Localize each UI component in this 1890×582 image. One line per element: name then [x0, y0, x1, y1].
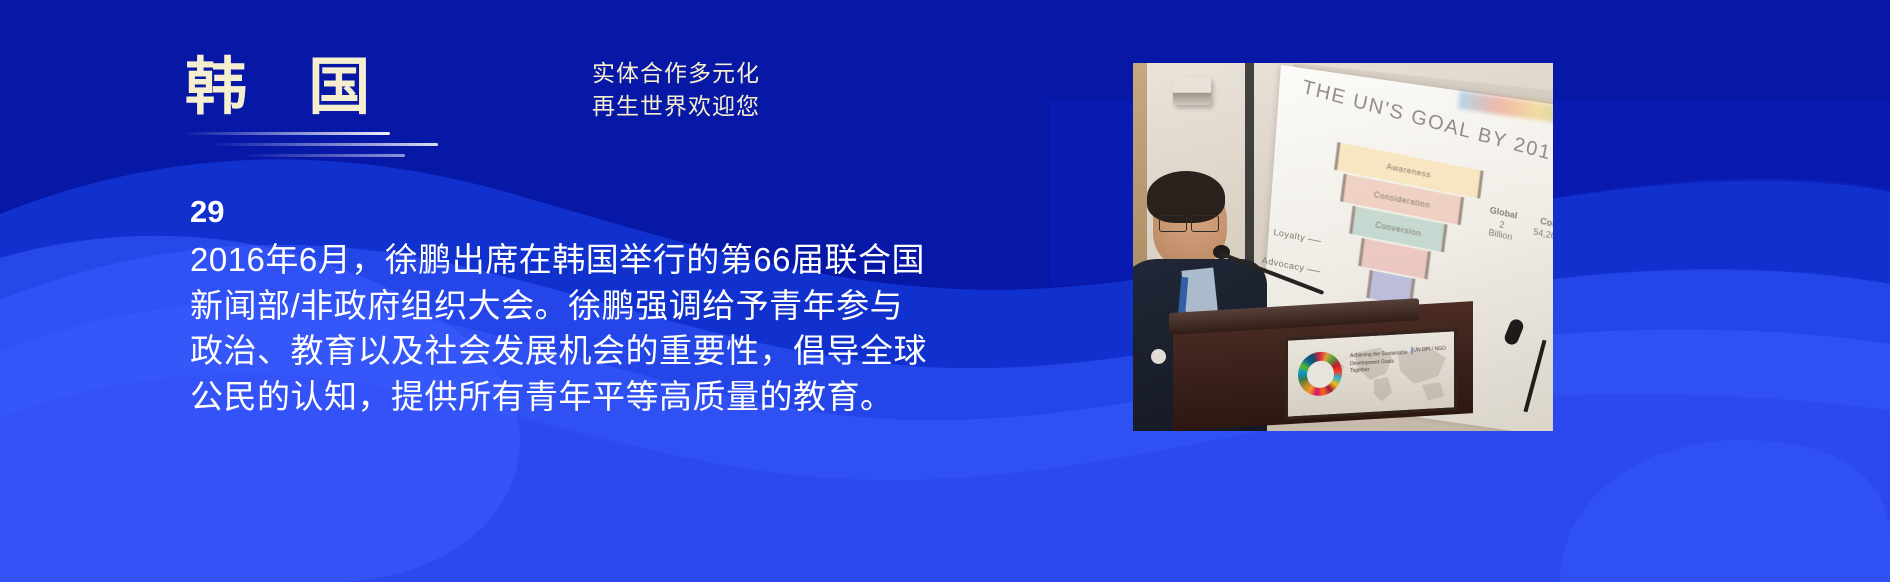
underline-rule-2 — [213, 143, 438, 146]
title-block: 韩 国 — [185, 55, 525, 158]
body-line-3: 政治、教育以及社会发展机会的重要性，倡导全球 — [190, 328, 910, 374]
item-number: 29 — [190, 196, 910, 227]
glasses-lens-right — [1191, 215, 1219, 232]
funnel-diagram: Awareness Consideration Conversion Loyal… — [1319, 142, 1478, 318]
subtitle-line-2: 再生世界欢迎您 — [592, 90, 760, 123]
speaker-badge — [1151, 349, 1166, 364]
wall-vent — [1173, 77, 1211, 105]
slide-statistics: Global 2 Billion Country 54,266,399 — [1486, 205, 1553, 256]
photo-content: THE UN'S GOAL BY 2017 Awareness Consider… — [1133, 63, 1553, 431]
conference-photo: THE UN'S GOAL BY 2017 Awareness Consider… — [1133, 63, 1553, 431]
underline-rule-1 — [185, 132, 390, 135]
subtitle-block: 实体合作多元化 再生世界欢迎您 — [592, 57, 760, 122]
podium-sign: Achieving the Sustainable Development Go… — [1285, 328, 1457, 420]
stat-global: Global 2 Billion — [1486, 205, 1518, 242]
funnel-label-loyalty: Loyalty — [1273, 227, 1306, 243]
stat-country: Country 54,266,399 — [1531, 215, 1553, 256]
underline-rule-3 — [245, 154, 405, 157]
presentation-slide: 韩 国 实体合作多元化 再生世界欢迎您 29 2016年6月，徐鹏出席在韩国举行… — [0, 0, 1890, 582]
stat-global-value: 2 Billion — [1486, 217, 1516, 243]
page-title: 韩 国 — [185, 55, 525, 120]
podium-sign-tagline: Achieving the Sustainable Development Go… — [1350, 350, 1412, 376]
title-underline-decoration — [185, 132, 525, 158]
body-line-1: 2016年6月，徐鹏出席在韩国举行的第66届联合国 — [190, 237, 910, 283]
body-paragraph: 2016年6月，徐鹏出席在韩国举行的第66届联合国 新闻部/非政府组织大会。徐鹏… — [190, 237, 910, 419]
body-line-4: 公民的认知，提供所有青年平等高质量的教育。 — [190, 374, 910, 420]
body-line-2: 新闻部/非政府组织大会。徐鹏强调给予青年参与 — [190, 283, 910, 329]
body-block: 29 2016年6月，徐鹏出席在韩国举行的第66届联合国 新闻部/非政府组织大会… — [190, 196, 910, 419]
stat-country-value: 54,266,399 — [1533, 226, 1553, 245]
speaker-glasses — [1159, 215, 1223, 230]
glasses-lens-left — [1159, 215, 1187, 232]
subtitle-line-1: 实体合作多元化 — [592, 57, 760, 90]
